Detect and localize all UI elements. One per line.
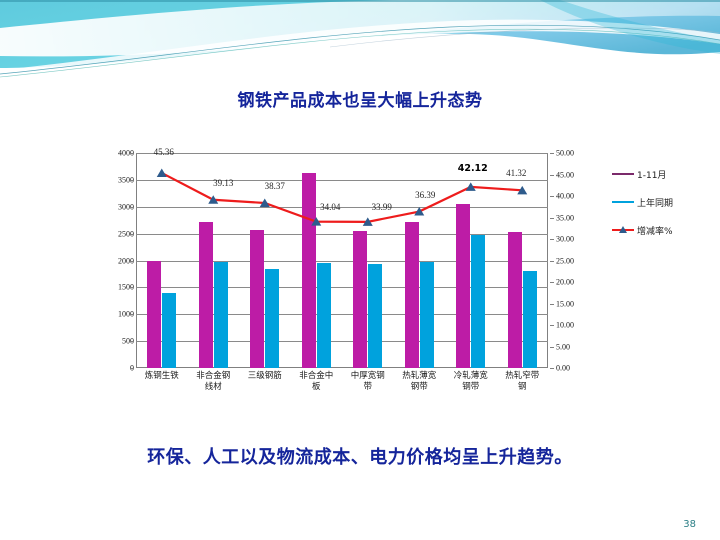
y2-axis-tick-label: 35.00 (556, 213, 574, 222)
x-axis-label-line: 钢 (491, 382, 555, 393)
y-axis-tick-mark (130, 234, 134, 235)
legend-swatch (612, 169, 634, 179)
header-wave-decoration (0, 0, 720, 80)
plot-area: 45.3639.1338.3734.0433.9936.3942.1241.32 (136, 153, 548, 368)
y2-axis-tick-mark (550, 239, 554, 240)
y2-axis-tick-label: 10.00 (556, 321, 574, 330)
y2-axis-tick-label: 40.00 (556, 192, 574, 201)
x-axis-label-line: 热轧窄带 (491, 371, 555, 382)
y2-axis-tick-mark (550, 175, 554, 176)
y2-axis-tick-label: 15.00 (556, 299, 574, 308)
rate-data-label: 38.37 (265, 181, 285, 191)
y-axis-tick-mark (130, 368, 134, 369)
x-axis-label: 热轧窄带钢 (491, 371, 555, 393)
rate-data-label: 33.99 (372, 202, 392, 212)
page-title: 钢铁产品成本也呈大幅上升态势 (0, 86, 720, 111)
y-axis-right: 0.005.0010.0015.0020.0025.0030.0035.0040… (550, 153, 604, 368)
rate-data-label: 45.36 (154, 147, 174, 157)
y2-axis-tick-mark (550, 368, 554, 369)
cost-bar-chart: 05001000150020002500300035004000 0.005.0… (104, 145, 604, 385)
y2-axis-tick-mark (550, 196, 554, 197)
legend-swatch (612, 225, 634, 235)
y-axis-tick-mark (130, 341, 134, 342)
legend-item: 增减率% (612, 216, 712, 244)
y2-axis-tick-label: 20.00 (556, 278, 574, 287)
y2-axis-tick-label: 5.00 (556, 342, 570, 351)
y2-axis-tick-mark (550, 347, 554, 348)
legend-label: 增减率% (637, 224, 673, 237)
rate-data-label: 41.32 (506, 168, 526, 178)
y2-axis-tick-mark (550, 282, 554, 283)
x-axis-labels: 炼钢生铁非合金钢线材三级钢筋非合金中板中厚宽钢带热轧薄宽钢带冷轧薄宽钢带热轧窄带… (136, 371, 548, 413)
y-axis-tick-mark (130, 314, 134, 315)
rate-data-label: 39.13 (213, 178, 233, 188)
rate-data-label: 42.12 (458, 163, 488, 174)
slide-caption: 环保、人工以及物流成本、电力价格均呈上升趋势。 (0, 443, 720, 469)
y2-axis-tick-label: 0.00 (556, 364, 570, 373)
chart-legend: 1-11月上年同期增减率% (612, 160, 712, 244)
y-axis-tick-mark (130, 207, 134, 208)
y2-axis-tick-mark (550, 261, 554, 262)
legend-marker-icon (619, 226, 627, 233)
y2-axis-tick-mark (550, 153, 554, 154)
y-axis-left: 05001000150020002500300035004000 (104, 153, 134, 368)
legend-swatch (612, 197, 634, 207)
y2-axis-tick-label: 50.00 (556, 149, 574, 158)
rate-marker (157, 168, 167, 177)
rate-data-label: 34.04 (320, 202, 340, 212)
legend-line (612, 201, 634, 203)
rate-data-label: 36.39 (415, 190, 435, 200)
y2-axis-tick-label: 25.00 (556, 256, 574, 265)
x-axis-label-line: 线材 (182, 382, 246, 393)
y-axis-tick-mark (130, 261, 134, 262)
y2-axis-tick-label: 30.00 (556, 235, 574, 244)
y-axis-tick-mark (130, 153, 134, 154)
y2-axis-tick-mark (550, 325, 554, 326)
rate-line-series (136, 153, 548, 368)
legend-item: 1-11月 (612, 160, 712, 188)
y-axis-tick-mark (130, 180, 134, 181)
y2-axis-tick-label: 45.00 (556, 170, 574, 179)
legend-item: 上年同期 (612, 188, 712, 216)
legend-line (612, 173, 634, 175)
y2-axis-tick-mark (550, 304, 554, 305)
y2-axis-tick-mark (550, 218, 554, 219)
legend-label: 1-11月 (637, 168, 666, 181)
page-number: 38 (683, 519, 696, 530)
legend-label: 上年同期 (637, 196, 673, 209)
y-axis-tick-mark (130, 287, 134, 288)
